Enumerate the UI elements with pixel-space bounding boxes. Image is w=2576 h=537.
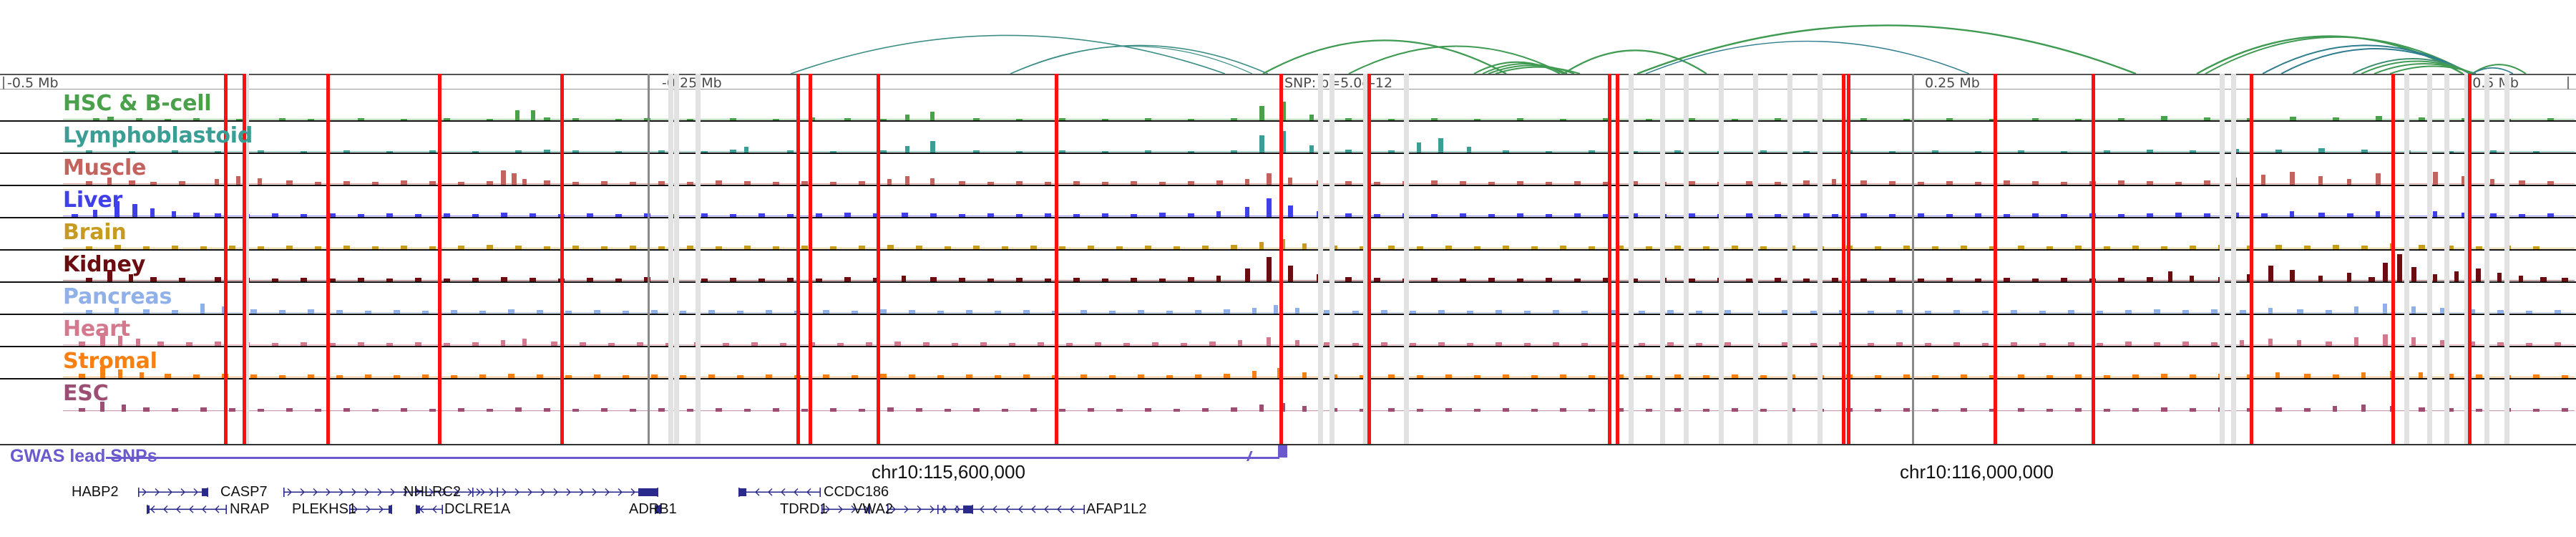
track-label-heart: Heart [63,315,130,345]
ruler-tick [3,77,4,90]
gene-row-1: HABP2CASP7NHLRC2CCDC186 [0,484,2576,500]
ruler-tick [648,77,649,90]
signal-track[interactable]: Stromal [0,347,2576,379]
track-label-pancreas: Pancreas [63,283,172,313]
gwas-connector-line [106,457,1279,459]
interaction-arc [2281,49,2470,74]
interaction-arc [2390,67,2476,74]
interaction-arc [1563,50,1707,74]
gene-label: CCDC186 [824,484,889,500]
genome-browser-root: -0.5 Mb-0.25 MbSNP: p=5.0e-120.25 Mb0.5 … [0,0,2576,537]
gene-model [283,484,498,500]
ruler-label: 0.25 Mb [1925,75,1980,91]
gene-label: NHLRC2 [404,484,461,500]
interaction-arc [2205,37,2470,74]
signal-track[interactable]: Heart [0,315,2576,347]
signal-track[interactable]: Muscle [0,154,2576,186]
gene-label: HABP2 [72,484,119,500]
interaction-arc [1349,47,1563,74]
interaction-arc [791,35,1225,74]
track-signal [0,186,2576,217]
track-label-muscle: Muscle [63,154,146,184]
ruler-tick [1281,77,1282,90]
gene-model [738,484,821,500]
track-label-lymphoblastoid: Lymphoblastoid [63,122,253,152]
gene-label: CASP7 [220,484,268,500]
gene-row-3: ADRB1 [0,501,2576,517]
interaction-arc [1010,47,1252,74]
signal-tracks-container: HSC & B-cellLymphoblastoidMuscleLiverBra… [0,89,2576,444]
gene-label: ADRB1 [629,501,677,517]
signal-track[interactable]: Pancreas [0,283,2576,315]
signal-track[interactable]: Kidney [0,251,2576,283]
interaction-arc [1637,25,2136,74]
arcs-svg [0,0,2576,74]
gene-model [472,484,658,500]
track-label-hsc-b-cell: HSC & B-cell [63,89,211,120]
interaction-arc [1646,42,1969,74]
signal-track[interactable]: Liver [0,186,2576,218]
ruler-tick [1912,77,1913,90]
track-signal [0,89,2576,120]
interaction-arc [1263,40,1506,74]
track-label-liver: Liver [63,186,122,216]
gwas-lead-snp-marker[interactable] [1278,445,1287,458]
ruler-label: -0.25 Mb [662,75,722,91]
track-signal [0,315,2576,346]
ruler-label: SNP: p=5.0e-12 [1284,75,1392,91]
interaction-arc [2472,64,2526,74]
signal-track[interactable]: HSC & B-cell [0,89,2576,122]
locus-label-left: chr10:115,600,000 [872,461,1025,483]
track-label-brain: Brain [63,218,127,248]
gwas-connector-elbow [1246,451,1253,461]
signal-track[interactable]: ESC [0,379,2576,412]
ruler-label: 0.5 Mb [2472,75,2519,91]
ruler-label: -0.5 Mb [7,75,59,91]
gene-model [138,484,208,500]
track-label-stromal: Stromal [63,347,157,377]
locus-label-right: chr10:116,000,000 [1900,461,2054,483]
track-signal [0,122,2576,153]
gene-annotation-panel: GWAS lead SNPs chr10:115,600,000 chr10:1… [0,444,2576,537]
interaction-arc [2472,68,2513,74]
ruler-tick [2567,77,2569,90]
genomic-coordinate-ruler[interactable]: -0.5 Mb-0.25 MbSNP: p=5.0e-120.25 Mb0.5 … [0,74,2576,89]
signal-track[interactable]: Brain [0,218,2576,251]
track-signal [0,154,2576,185]
track-signal [0,347,2576,378]
signal-track[interactable]: Lymphoblastoid [0,122,2576,154]
track-label-kidney: Kidney [63,251,145,281]
track-label-esc: ESC [63,379,109,410]
track-signal [0,283,2576,314]
track-signal [0,251,2576,281]
track-signal [0,218,2576,249]
chromatin-interaction-arcs-panel [0,0,2576,74]
track-signal [0,380,2576,412]
